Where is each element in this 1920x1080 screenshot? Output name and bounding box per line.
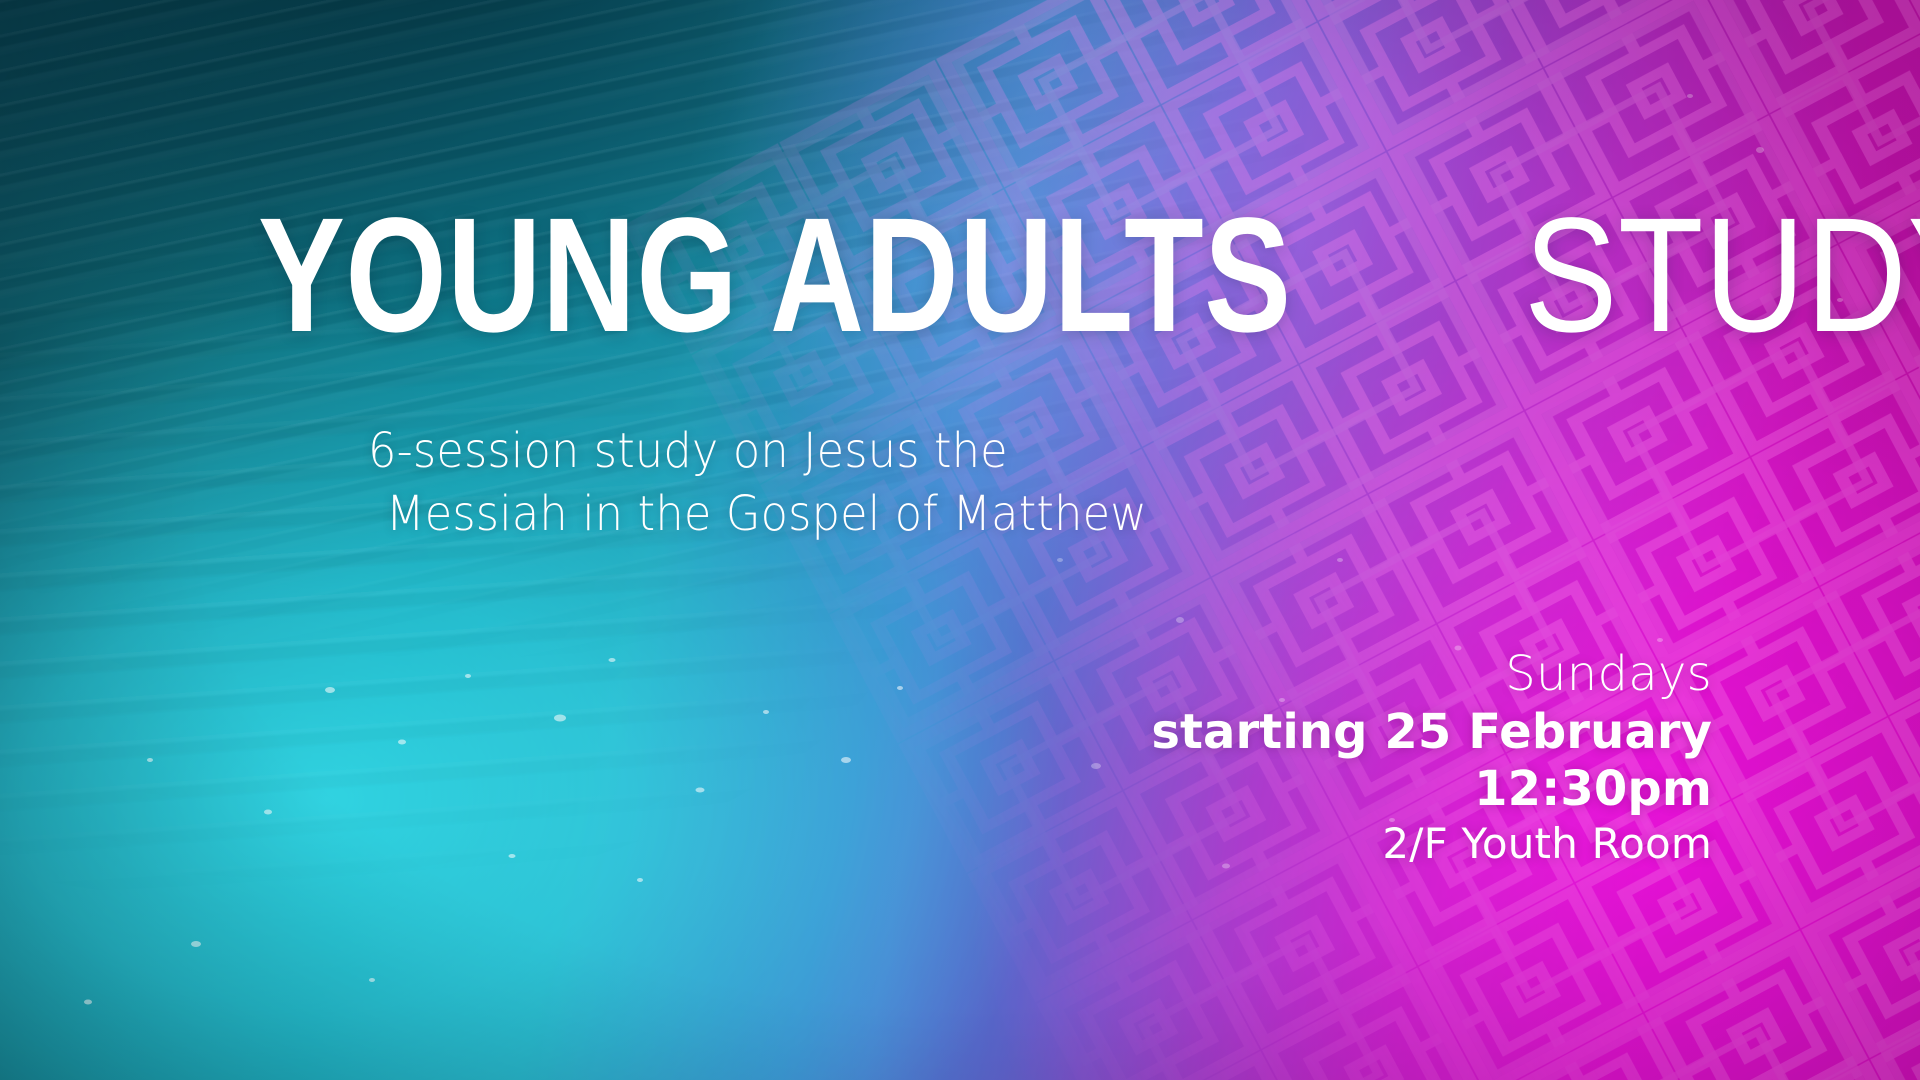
subtitle-line-1: 6-session study on Jesus the	[368, 420, 1146, 483]
page-title: YOUNG ADULTSSTUDY	[258, 193, 1920, 356]
poster-content: YOUNG ADULTSSTUDY 6-session study on Jes…	[0, 0, 1920, 1080]
promo-poster: YOUNG ADULTSSTUDY 6-session study on Jes…	[0, 0, 1920, 1080]
title-primary: YOUNG ADULTS	[258, 193, 1291, 356]
title-secondary: STUDY	[1524, 193, 1920, 356]
subtitle-line-2: Messiah in the Gospel of Matthew	[386, 483, 1147, 546]
event-day: Sundays	[1151, 646, 1712, 704]
subtitle: 6-session study on Jesus the Messiah in …	[368, 420, 1204, 547]
event-start-date: starting 25 February	[1151, 704, 1712, 762]
event-location: 2/F Youth Room	[1151, 819, 1712, 869]
event-time: 12:30pm	[1151, 761, 1712, 819]
event-details: Sundays starting 25 February 12:30pm 2/F…	[1151, 646, 1712, 869]
